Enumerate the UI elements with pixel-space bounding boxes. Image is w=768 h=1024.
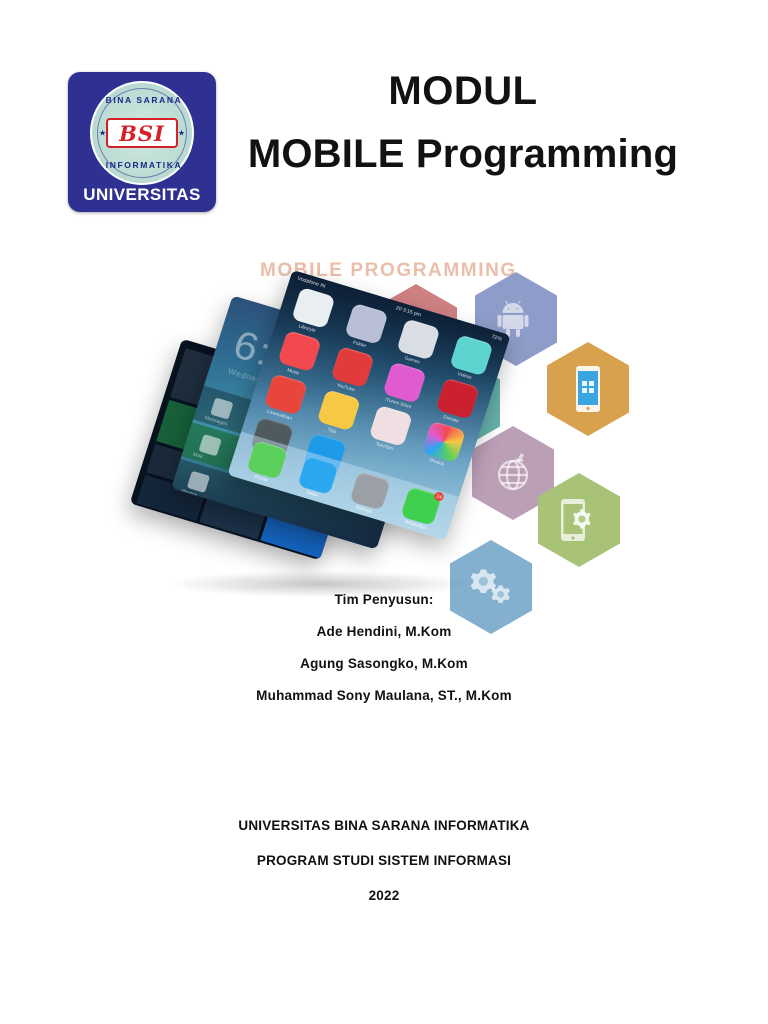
bsi-university-logo: BINA SARANA ★ ★ BSI INFORMATIKA UNIVERSI… [68,72,216,212]
phone-gear-icon [557,497,601,543]
logo-arc-top-text: BINA SARANA [92,95,196,105]
logo-arc-bottom-text: INFORMATIKA [92,160,196,170]
notification-icon [198,434,221,456]
app-icon-tile: Tips [309,388,366,440]
dock-app-settings: Settings [347,471,390,516]
app-icon-tile: Music [270,329,327,381]
author-name: Muhammad Sony Maulana, ST., M.Kom [0,688,768,703]
logo-seal: BINA SARANA ★ ★ BSI INFORMATIKA [90,81,194,185]
battery-label: 72% [491,333,503,342]
notification-icon [210,397,233,419]
dock-app-whatsapp: 24 WhatsApp [399,486,442,531]
page-title: MODUL [228,70,698,113]
author-name: Ade Hendini, M.Kom [0,624,768,639]
cover-header: BINA SARANA ★ ★ BSI INFORMATIKA UNIVERSI… [0,70,768,215]
logo-monogram: BSI [106,118,178,148]
publication-year: 2022 [0,888,768,903]
authors-heading: Tim Penyusun: [0,592,768,607]
program-name: PROGRAM STUDI SISTEM INFORMASI [0,853,768,868]
notification-icon [187,471,210,493]
notification-label: Mail [192,452,203,460]
app-icon-tile: Photos [414,419,471,471]
app-icon-tile: Zomato [428,376,485,428]
logo-monogram-text: BSI [119,123,165,144]
authors-block: Tim Penyusun: Ade Hendini, M.Kom Agung S… [0,592,768,720]
institution-name: UNIVERSITAS BINA SARANA INFORMATIKA [0,818,768,833]
smartphone-tiles-icon [573,365,603,413]
dock-app-safari: Safari [296,455,339,500]
author-name: Agung Sasongko, M.Kom [0,656,768,671]
app-icon-tile: iTunes Store [375,360,432,412]
notification-label: Maps [171,525,182,534]
app-icon-tile: TomTom [362,403,419,455]
smartphone-hex [547,342,629,436]
title-block: MODUL MOBILE Programming [228,70,698,176]
cover-illustration: MOBILE PROGRAMMING [150,248,650,578]
app-icon-tile: YouTube [323,344,380,396]
layered-device-screens: 6:54 Wednesday, 11 Messages Mail Photos [150,296,480,561]
footer-block: UNIVERSITAS BINA SARANA INFORMATIKA PROG… [0,818,768,923]
app-icon-tile: Livemaithan [257,372,314,424]
logo-wordmark: UNIVERSITAS [68,185,216,205]
page-subtitle: MOBILE Programming [228,133,698,176]
globe-airplane-icon [491,451,535,495]
dock-app-phone: Phone [244,440,287,485]
star-right-icon: ★ [178,129,185,138]
